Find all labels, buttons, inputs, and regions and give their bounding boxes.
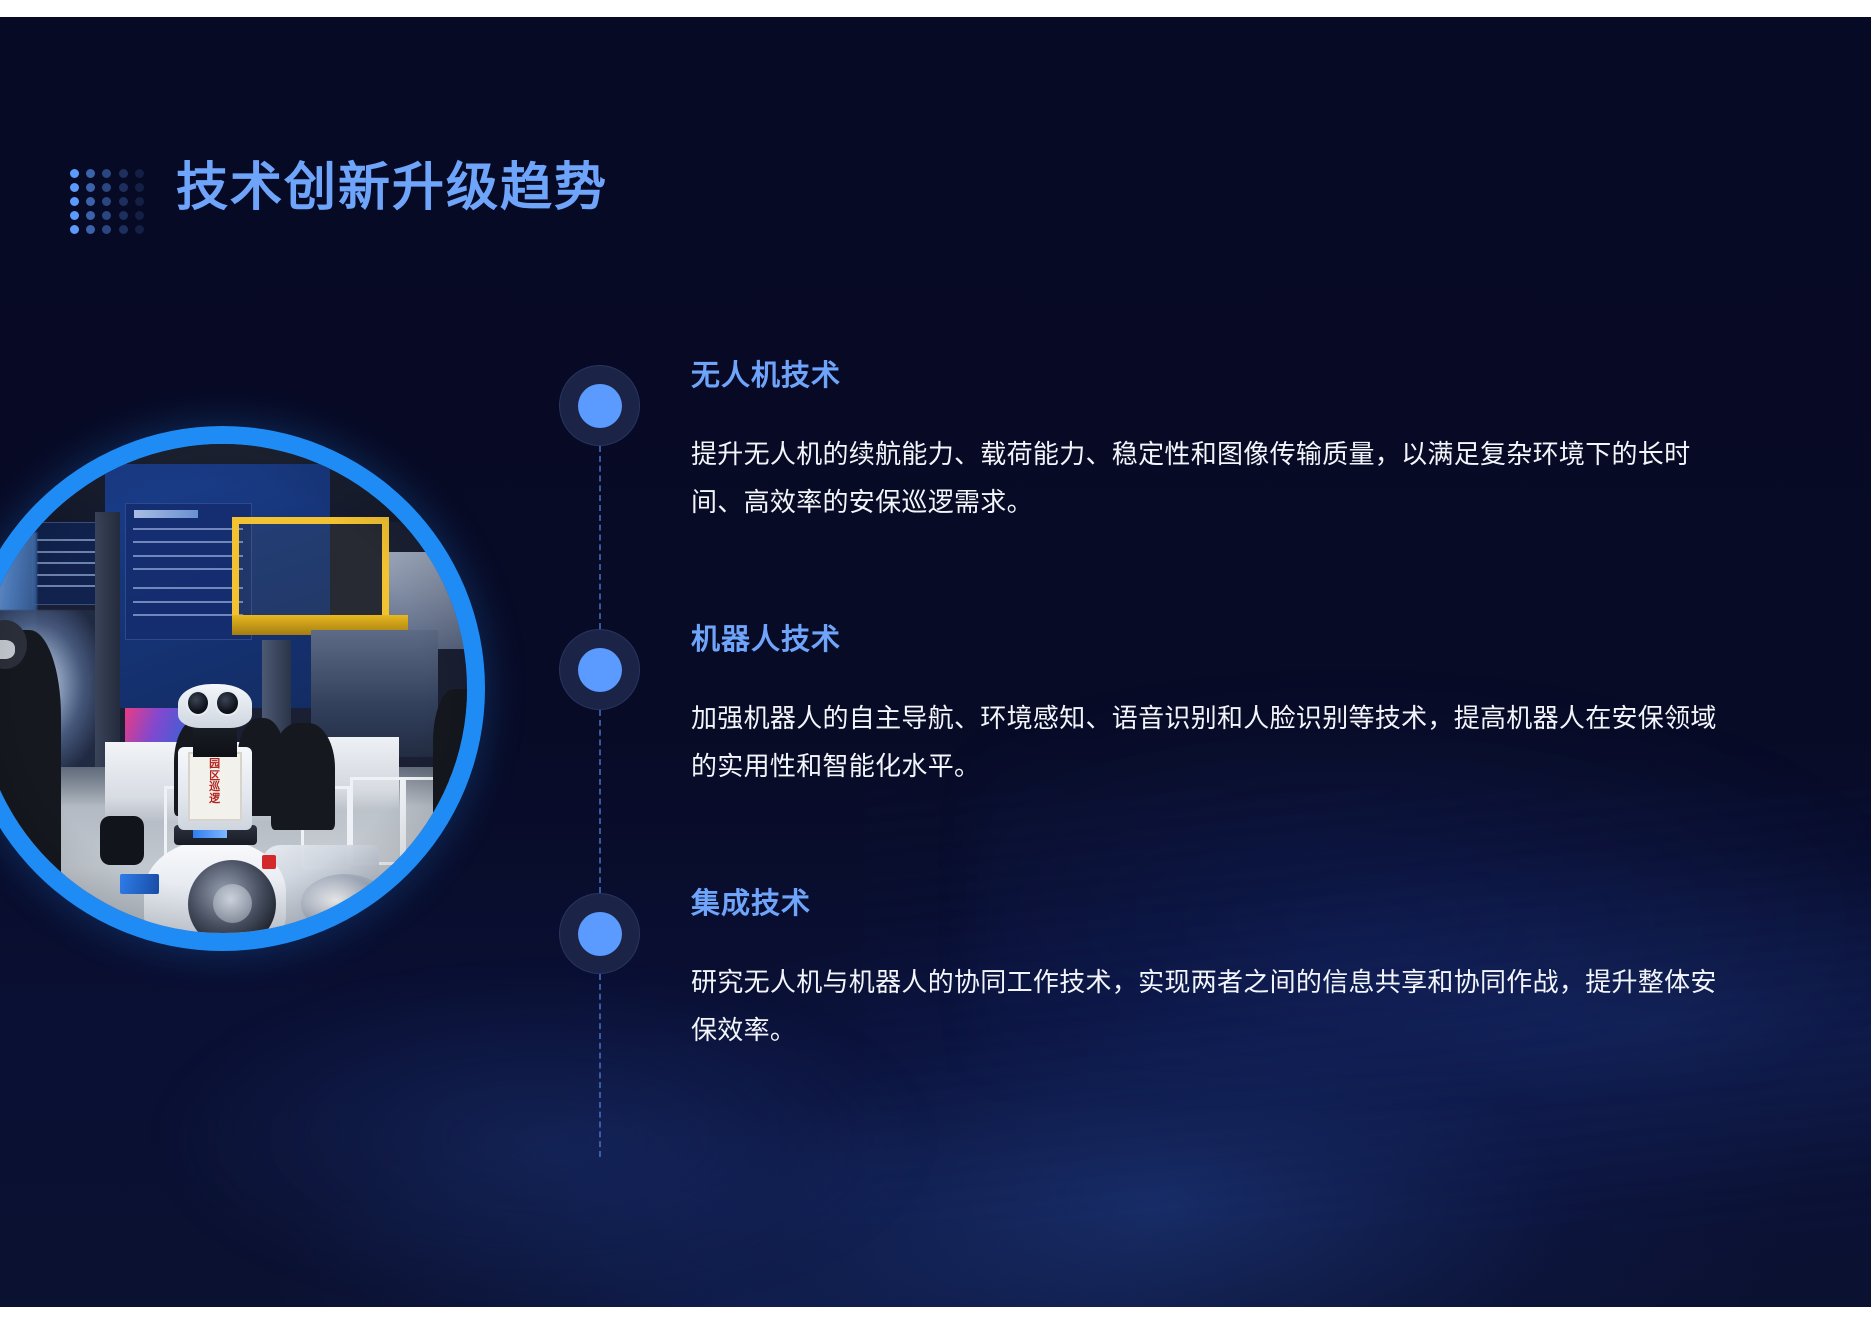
timeline-text: 研究无人机与机器人的协同工作技术，实现两者之间的信息共享和协同作战，提升整体安保…: [691, 958, 1727, 1055]
slide-header: 技术创新升级趋势: [58, 142, 958, 252]
timeline-bullet-icon: [559, 629, 640, 710]
timeline-item-body: 集成技术 研究无人机与机器人的协同工作技术，实现两者之间的信息共享和协同作战，提…: [691, 887, 1727, 1055]
timeline-bullet-icon: [559, 893, 640, 974]
timeline-item-body: 无人机技术 提升无人机的续航能力、载荷能力、稳定性和图像传输质量，以满足复杂环境…: [691, 359, 1727, 527]
timeline-heading: 无人机技术: [691, 359, 1727, 394]
timeline-item-body: 机器人技术 加强机器人的自主导航、环境感知、语音识别和人脸识别等技术，提高机器人…: [691, 623, 1727, 791]
timeline-text: 加强机器人的自主导航、环境感知、语音识别和人脸识别等技术，提高机器人在安保领域的…: [691, 694, 1727, 791]
timeline-heading: 集成技术: [691, 887, 1727, 922]
dot-grid-decoration-icon: [66, 166, 148, 236]
slide-frame: 技术创新升级趋势: [0, 0, 1871, 1323]
timeline-text: 提升无人机的续航能力、载荷能力、稳定性和图像传输质量，以满足复杂环境下的长时间、…: [691, 430, 1727, 527]
timeline-connector-line: [599, 974, 601, 1157]
timeline-list: 无人机技术 提升无人机的续航能力、载荷能力、稳定性和图像传输质量，以满足复杂环境…: [559, 365, 1739, 1005]
timeline-connector-line: [599, 446, 601, 629]
expo-photo: 园区巡逻: [0, 444, 467, 933]
timeline-connector-line: [599, 710, 601, 893]
photo-vignette: [0, 444, 467, 933]
slide-canvas: 技术创新升级趋势: [0, 17, 1871, 1307]
photo-ring-border: 园区巡逻: [0, 426, 485, 951]
timeline-heading: 机器人技术: [691, 623, 1727, 658]
page-title: 技术创新升级趋势: [176, 160, 608, 217]
timeline-bullet-icon: [559, 365, 640, 446]
